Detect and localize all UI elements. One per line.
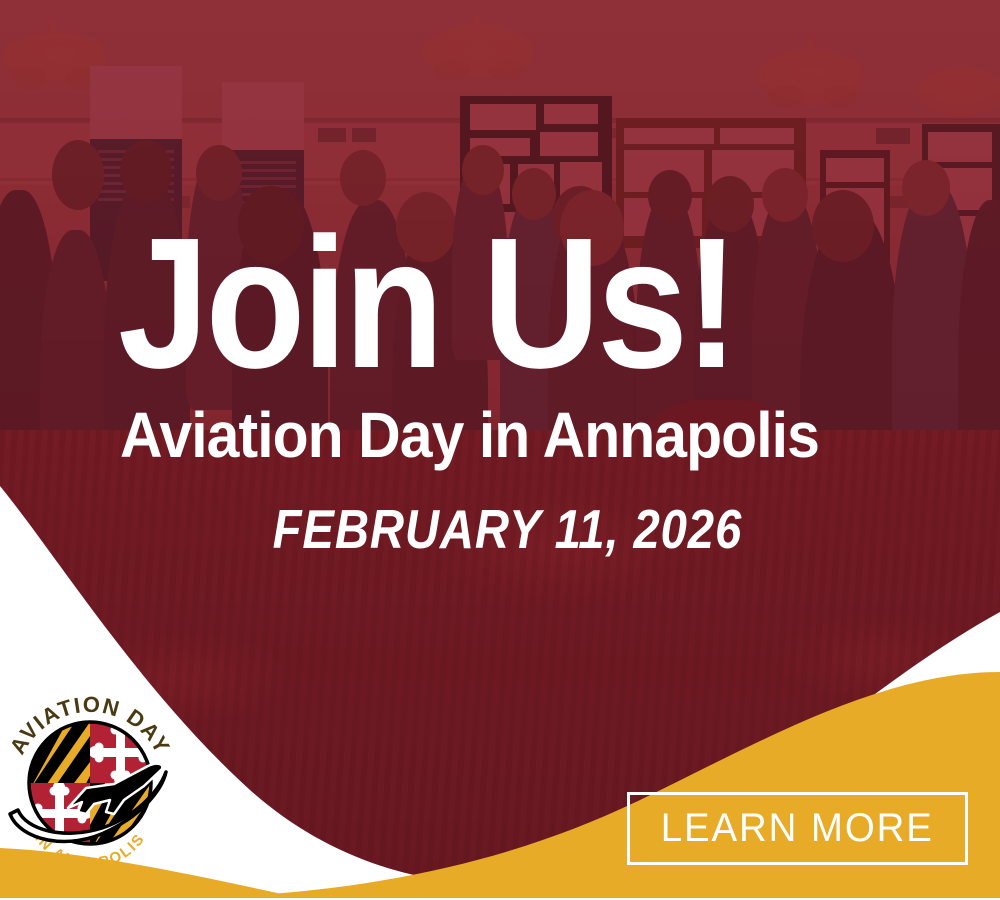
headline-block: Join Us! Aviation Day in Annapolis FEBRU…	[0, 228, 1000, 561]
aviation-day-logo[interactable]: AVIATION DAY IN ANNAPOLIS	[2, 668, 178, 873]
aviation-day-promo-banner: Join Us! Aviation Day in Annapolis FEBRU…	[0, 0, 1000, 900]
subtitle: Aviation Day in Annapolis	[120, 403, 930, 467]
learn-more-label: LEARN MORE	[661, 806, 934, 851]
page-title: Join Us!	[118, 228, 894, 381]
event-date: FEBRUARY 11, 2026	[180, 497, 939, 561]
learn-more-button[interactable]: LEARN MORE	[627, 792, 968, 865]
